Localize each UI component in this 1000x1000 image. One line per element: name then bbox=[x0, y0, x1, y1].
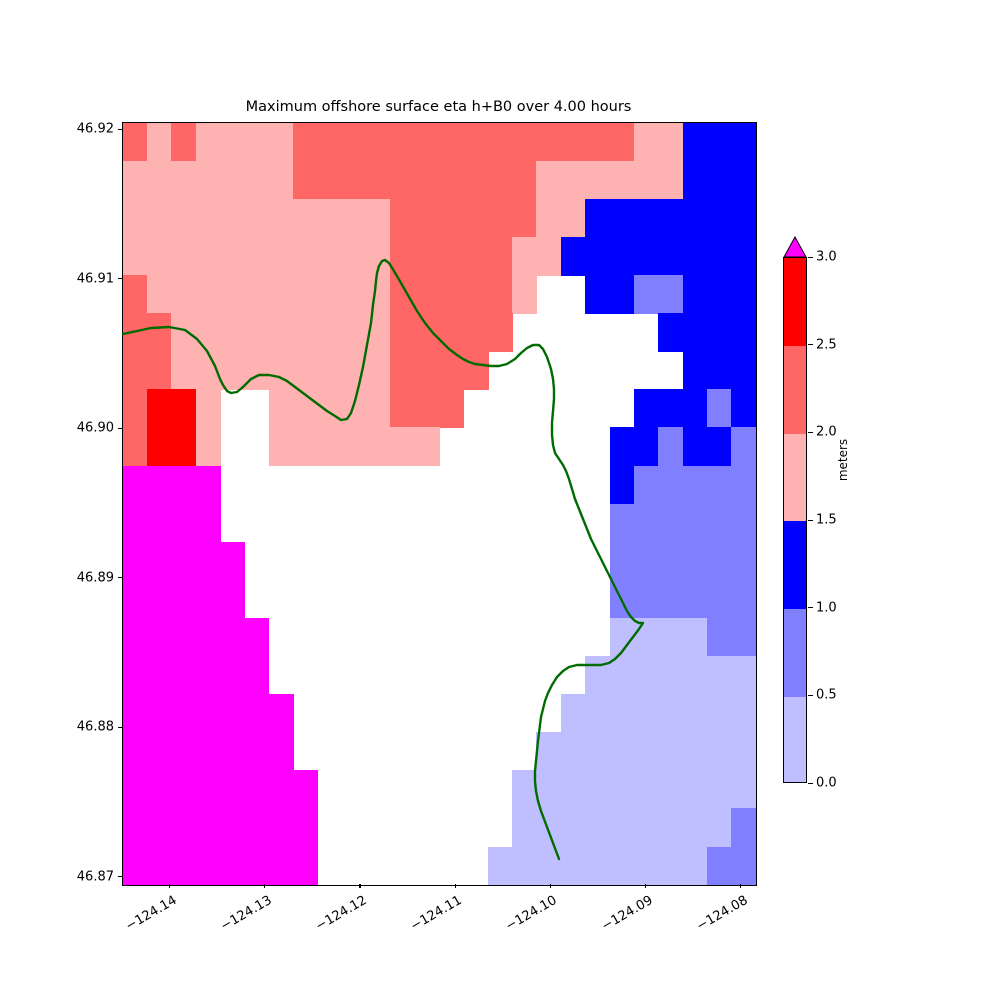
heatmap-cell bbox=[220, 847, 245, 886]
heatmap-cell bbox=[415, 275, 440, 314]
heatmap-cell bbox=[171, 580, 196, 619]
heatmap-cell bbox=[123, 618, 148, 657]
colorbar[interactable]: 0.00.51.01.52.02.53.0 bbox=[783, 236, 807, 783]
heatmap-cell bbox=[390, 389, 415, 428]
heatmap-cell bbox=[439, 199, 464, 238]
heatmap-cell bbox=[123, 694, 148, 733]
heatmap-cell bbox=[536, 732, 561, 771]
heatmap-cell bbox=[317, 199, 342, 238]
colorbar-tick-label: 2.5 bbox=[816, 337, 837, 352]
heatmap-cell bbox=[342, 123, 367, 162]
heatmap-cell bbox=[463, 123, 488, 162]
heatmap-cell bbox=[123, 313, 148, 352]
heatmap-cell bbox=[463, 275, 488, 314]
heatmap-cell bbox=[147, 732, 172, 771]
heatmap-cell bbox=[658, 161, 683, 200]
heatmap-cell bbox=[731, 732, 756, 771]
heatmap-cell bbox=[342, 275, 367, 314]
heatmap-cell bbox=[147, 694, 172, 733]
heatmap-cell bbox=[171, 313, 196, 352]
heatmap-cell bbox=[731, 313, 756, 352]
heatmap-cell bbox=[123, 237, 148, 276]
heatmap-cell bbox=[366, 199, 391, 238]
heatmap-cell bbox=[220, 618, 245, 657]
heatmap-cell bbox=[244, 656, 269, 695]
heatmap-cell bbox=[171, 389, 196, 428]
heatmap-cell bbox=[390, 237, 415, 276]
colorbar-band bbox=[784, 521, 806, 610]
heatmap-cell bbox=[196, 237, 221, 276]
heatmap-cell bbox=[683, 847, 708, 886]
heatmap-cell bbox=[147, 351, 172, 390]
heatmap-cell bbox=[512, 770, 537, 809]
x-tick-label: −124.11 bbox=[402, 893, 465, 938]
colorbar-band bbox=[784, 258, 806, 347]
heatmap-cell bbox=[244, 237, 269, 276]
heatmap-cell bbox=[610, 618, 635, 657]
heatmap-cell bbox=[707, 427, 732, 466]
y-tick-label: 46.87 bbox=[77, 869, 114, 884]
heatmap-cell bbox=[561, 847, 586, 886]
heatmap-cell bbox=[220, 237, 245, 276]
heatmap-cell bbox=[147, 161, 172, 200]
heatmap-cell bbox=[171, 123, 196, 162]
heatmap-cell bbox=[634, 847, 659, 886]
heatmap-cell bbox=[536, 161, 561, 200]
heatmap-cell bbox=[220, 694, 245, 733]
heatmap-cell bbox=[171, 770, 196, 809]
heatmap-cell bbox=[439, 313, 464, 352]
heatmap-cell bbox=[244, 313, 269, 352]
heatmap-cell bbox=[171, 275, 196, 314]
heatmap-cell bbox=[707, 275, 732, 314]
colorbar-tick-label: 0.5 bbox=[816, 688, 837, 703]
heatmap-cell bbox=[634, 123, 659, 162]
heatmap-cell bbox=[269, 351, 294, 390]
y-tick-mark bbox=[118, 428, 122, 429]
heatmap-cell bbox=[244, 275, 269, 314]
heatmap-cell bbox=[610, 199, 635, 238]
heatmap-cell bbox=[731, 542, 756, 581]
colorbar-tick-label: 1.5 bbox=[816, 513, 837, 528]
heatmap-cell bbox=[196, 732, 221, 771]
heatmap-cell bbox=[244, 123, 269, 162]
heatmap-cell bbox=[147, 123, 172, 162]
heatmap-cell bbox=[293, 123, 318, 162]
heatmap-cell bbox=[171, 618, 196, 657]
heatmap-cell bbox=[512, 199, 537, 238]
heatmap-cell bbox=[658, 542, 683, 581]
heatmap-cell bbox=[707, 389, 732, 428]
heatmap-cell bbox=[683, 504, 708, 543]
heatmap-cell bbox=[293, 313, 318, 352]
heatmap-cell bbox=[536, 808, 561, 847]
heatmap-cell bbox=[342, 427, 367, 466]
y-tick-mark bbox=[118, 129, 122, 130]
heatmap-cell bbox=[317, 313, 342, 352]
y-tick-mark bbox=[118, 577, 122, 578]
heatmap-cell bbox=[244, 351, 269, 390]
x-tick-mark bbox=[455, 884, 456, 888]
heatmap-cell bbox=[269, 694, 294, 733]
heatmap-cell bbox=[731, 161, 756, 200]
heatmap-cell bbox=[610, 161, 635, 200]
heatmap-cell bbox=[269, 427, 294, 466]
heatmap-cell bbox=[731, 199, 756, 238]
heatmap-cell bbox=[634, 542, 659, 581]
heatmap-cell bbox=[171, 808, 196, 847]
heatmap-cell bbox=[707, 656, 732, 695]
heatmap-cell bbox=[731, 618, 756, 657]
heatmap-cell bbox=[196, 199, 221, 238]
heatmap-cell bbox=[366, 275, 391, 314]
heatmap-cell bbox=[147, 808, 172, 847]
heatmap-cell bbox=[269, 847, 294, 886]
heatmap-cell bbox=[585, 199, 610, 238]
heatmap-cell bbox=[488, 847, 513, 886]
heatmap-cell bbox=[463, 199, 488, 238]
heatmap-cell bbox=[683, 694, 708, 733]
heatmap-cell bbox=[171, 427, 196, 466]
heatmap-cell bbox=[439, 123, 464, 162]
heatmap-cell bbox=[366, 313, 391, 352]
x-tick-label: −124.12 bbox=[307, 893, 370, 938]
heatmap-cell bbox=[683, 580, 708, 619]
y-tick-mark bbox=[118, 278, 122, 279]
page-title: Maximum offshore surface eta h+B0 over 4… bbox=[122, 98, 755, 116]
heatmap-cell bbox=[123, 427, 148, 466]
heatmap-cell bbox=[171, 351, 196, 390]
heatmap-cell bbox=[683, 275, 708, 314]
heatmap-cell bbox=[220, 580, 245, 619]
heatmap-cell bbox=[585, 732, 610, 771]
heatmap-cell bbox=[123, 389, 148, 428]
heatmap-cell bbox=[123, 466, 148, 505]
heatmap-cell bbox=[123, 770, 148, 809]
colorbar-tick-mark bbox=[808, 607, 813, 608]
heatmap-cell bbox=[610, 504, 635, 543]
heatmap-cell bbox=[244, 847, 269, 886]
heatmap-cell bbox=[658, 808, 683, 847]
heatmap-cell bbox=[269, 313, 294, 352]
heatmap-cell bbox=[220, 732, 245, 771]
heatmap-cell bbox=[123, 123, 148, 162]
heatmap-cell bbox=[366, 427, 391, 466]
heatmap-cell bbox=[147, 237, 172, 276]
colorbar-band bbox=[784, 345, 806, 434]
heatmap-cell bbox=[171, 542, 196, 581]
heatmap-cell bbox=[196, 389, 221, 428]
heatmap-cell bbox=[585, 275, 610, 314]
heatmap-cell bbox=[415, 389, 440, 428]
heatmap-cell bbox=[147, 427, 172, 466]
heatmap-cell bbox=[658, 770, 683, 809]
heatmap-cell bbox=[488, 161, 513, 200]
colorbar-axis-label: meters bbox=[836, 439, 850, 481]
heatmap-cell bbox=[561, 694, 586, 733]
heatmap-cell bbox=[610, 770, 635, 809]
heatmap-cell bbox=[683, 427, 708, 466]
heatmap-cell bbox=[123, 808, 148, 847]
heatmap-cell bbox=[123, 847, 148, 886]
heatmap-cell bbox=[196, 427, 221, 466]
heatmap-cell bbox=[269, 389, 294, 428]
heatmap-cell bbox=[147, 542, 172, 581]
heatmap-grid bbox=[123, 123, 756, 885]
y-tick-label: 46.88 bbox=[77, 720, 114, 735]
heatmap-cell bbox=[171, 161, 196, 200]
x-tick-label: −124.13 bbox=[211, 893, 274, 938]
heatmap-cell bbox=[342, 389, 367, 428]
heatmap-cell bbox=[293, 199, 318, 238]
heatmap-cell bbox=[317, 237, 342, 276]
heatmap-cell bbox=[634, 199, 659, 238]
colorbar-tick-mark bbox=[808, 432, 813, 433]
heatmap-cell bbox=[658, 199, 683, 238]
heatmap-cell bbox=[342, 237, 367, 276]
heatmap-cell bbox=[585, 847, 610, 886]
heatmap-cell bbox=[634, 275, 659, 314]
heatmap-cell bbox=[366, 351, 391, 390]
heatmap-cell bbox=[220, 161, 245, 200]
heatmap-cell bbox=[585, 237, 610, 276]
heatmap-cell bbox=[634, 808, 659, 847]
heatmap-cell bbox=[610, 656, 635, 695]
heatmap-cell bbox=[634, 161, 659, 200]
heatmap-cell bbox=[342, 351, 367, 390]
heatmap-cell bbox=[731, 694, 756, 733]
heatmap-cell bbox=[585, 770, 610, 809]
heatmap-cell bbox=[293, 847, 318, 886]
heatmap-cell bbox=[731, 770, 756, 809]
heatmap-cell bbox=[196, 847, 221, 886]
heatmap-cell bbox=[658, 656, 683, 695]
heatmap-cell bbox=[244, 161, 269, 200]
heatmap-cell bbox=[634, 504, 659, 543]
heatmap-cell bbox=[390, 275, 415, 314]
x-tick-label: −124.10 bbox=[497, 893, 560, 938]
heatmap-cell bbox=[683, 237, 708, 276]
heatmap-cell bbox=[317, 389, 342, 428]
heatmap-cell bbox=[220, 656, 245, 695]
heatmap-cell bbox=[293, 427, 318, 466]
heatmap-cell bbox=[683, 542, 708, 581]
heatmap-cell bbox=[561, 237, 586, 276]
heatmap-cell bbox=[610, 847, 635, 886]
heatmap-cell bbox=[415, 237, 440, 276]
heatmap-cell bbox=[463, 161, 488, 200]
heatmap-cell bbox=[561, 770, 586, 809]
heatmap-cell bbox=[196, 466, 221, 505]
heatmap-cell bbox=[512, 847, 537, 886]
heatmap-cell bbox=[293, 161, 318, 200]
heatmap-cell bbox=[707, 237, 732, 276]
y-tick-mark bbox=[118, 876, 122, 877]
heatmap-cell bbox=[123, 580, 148, 619]
heatmap-cell bbox=[512, 237, 537, 276]
heatmap-cell bbox=[196, 313, 221, 352]
heatmap-cell bbox=[317, 123, 342, 162]
heatmap-cell bbox=[707, 199, 732, 238]
x-tick-mark bbox=[169, 884, 170, 888]
heatmap-cell bbox=[196, 656, 221, 695]
heatmap-cell bbox=[463, 313, 488, 352]
heatmap-cell bbox=[171, 694, 196, 733]
heatmap-cell bbox=[366, 161, 391, 200]
heatmap-cell bbox=[196, 542, 221, 581]
heatmap-cell bbox=[196, 694, 221, 733]
heatmap-cell bbox=[415, 199, 440, 238]
heatmap-cell bbox=[147, 656, 172, 695]
heatmap-cell bbox=[196, 123, 221, 162]
heatmap-cell bbox=[683, 656, 708, 695]
colorbar-tick-label: 1.0 bbox=[816, 600, 837, 615]
heatmap-cell bbox=[123, 504, 148, 543]
heatmap-cell bbox=[123, 275, 148, 314]
heatmap-cell bbox=[536, 123, 561, 162]
heatmap-cell bbox=[683, 389, 708, 428]
heatmap-cell bbox=[634, 694, 659, 733]
heatmap-cell bbox=[634, 770, 659, 809]
heatmap-cell bbox=[707, 808, 732, 847]
heatmap-cell bbox=[463, 237, 488, 276]
heatmap-cell bbox=[147, 770, 172, 809]
heatmap-cell bbox=[342, 313, 367, 352]
heatmap-cell bbox=[707, 504, 732, 543]
heatmap-cell bbox=[585, 123, 610, 162]
heatmap-cell bbox=[707, 161, 732, 200]
heatmap-cell bbox=[269, 275, 294, 314]
x-tick-mark bbox=[740, 884, 741, 888]
heatmap-cell bbox=[683, 351, 708, 390]
colorbar-tick-mark bbox=[808, 257, 813, 258]
heatmap-cell bbox=[342, 199, 367, 238]
colorbar-tick-label: 2.0 bbox=[816, 425, 837, 440]
heatmap-cell bbox=[244, 618, 269, 657]
heatmap-cell bbox=[147, 313, 172, 352]
heatmap-cell bbox=[585, 161, 610, 200]
map-axes[interactable] bbox=[122, 122, 757, 886]
heatmap-cell bbox=[439, 237, 464, 276]
heatmap-cell bbox=[317, 351, 342, 390]
heatmap-cell bbox=[269, 237, 294, 276]
heatmap-cell bbox=[196, 275, 221, 314]
heatmap-cell bbox=[658, 732, 683, 771]
heatmap-cell bbox=[196, 808, 221, 847]
heatmap-cell bbox=[171, 656, 196, 695]
heatmap-cell bbox=[610, 237, 635, 276]
heatmap-cell bbox=[658, 313, 683, 352]
heatmap-cell bbox=[683, 466, 708, 505]
heatmap-cell bbox=[634, 656, 659, 695]
heatmap-cell bbox=[610, 808, 635, 847]
heatmap-cell bbox=[707, 466, 732, 505]
heatmap-cell bbox=[707, 694, 732, 733]
heatmap-cell bbox=[512, 275, 537, 314]
heatmap-cell bbox=[731, 847, 756, 886]
heatmap-cell bbox=[415, 351, 440, 390]
heatmap-cell bbox=[220, 351, 245, 390]
heatmap-cell bbox=[244, 770, 269, 809]
heatmap-cell bbox=[171, 237, 196, 276]
heatmap-cell bbox=[317, 275, 342, 314]
heatmap-cell bbox=[415, 313, 440, 352]
x-tick-mark bbox=[359, 884, 360, 888]
heatmap-cell bbox=[658, 389, 683, 428]
heatmap-cell bbox=[683, 123, 708, 162]
heatmap-cell bbox=[683, 770, 708, 809]
heatmap-cell bbox=[658, 847, 683, 886]
heatmap-cell bbox=[634, 427, 659, 466]
heatmap-cell bbox=[366, 123, 391, 162]
heatmap-cell bbox=[683, 732, 708, 771]
colorbar-tick-label: 0.0 bbox=[816, 776, 837, 791]
heatmap-cell bbox=[585, 694, 610, 733]
heatmap-cell bbox=[658, 466, 683, 505]
figure-canvas: Maximum offshore surface eta h+B0 over 4… bbox=[0, 0, 1000, 1000]
heatmap-cell bbox=[610, 275, 635, 314]
x-tick-mark bbox=[550, 884, 551, 888]
heatmap-cell bbox=[439, 389, 464, 428]
heatmap-cell bbox=[269, 123, 294, 162]
heatmap-cell bbox=[196, 504, 221, 543]
heatmap-cell bbox=[147, 275, 172, 314]
heatmap-cell bbox=[683, 161, 708, 200]
heatmap-cell bbox=[610, 580, 635, 619]
colorbar-band bbox=[784, 433, 806, 522]
heatmap-cell bbox=[585, 656, 610, 695]
heatmap-cell bbox=[171, 504, 196, 543]
heatmap-cell bbox=[439, 275, 464, 314]
heatmap-cell bbox=[707, 123, 732, 162]
heatmap-cell bbox=[244, 199, 269, 238]
heatmap-cell bbox=[634, 618, 659, 657]
colorbar-bands bbox=[783, 257, 807, 783]
colorbar-extend-max-arrow bbox=[783, 236, 807, 258]
heatmap-cell bbox=[731, 580, 756, 619]
heatmap-cell bbox=[171, 466, 196, 505]
heatmap-cell bbox=[147, 199, 172, 238]
heatmap-cell bbox=[731, 389, 756, 428]
heatmap-cell bbox=[610, 466, 635, 505]
heatmap-cell bbox=[707, 351, 732, 390]
heatmap-cell bbox=[244, 694, 269, 733]
heatmap-cell bbox=[123, 161, 148, 200]
heatmap-cell bbox=[610, 123, 635, 162]
heatmap-cell bbox=[390, 313, 415, 352]
heatmap-cell bbox=[171, 847, 196, 886]
heatmap-cell bbox=[220, 275, 245, 314]
x-tick-label: −124.08 bbox=[687, 893, 750, 938]
heatmap-cell bbox=[731, 275, 756, 314]
heatmap-cell bbox=[488, 275, 513, 314]
heatmap-cell bbox=[561, 732, 586, 771]
x-tick-label: −124.09 bbox=[592, 893, 655, 938]
heatmap-cell bbox=[707, 770, 732, 809]
heatmap-cell bbox=[731, 504, 756, 543]
heatmap-cell bbox=[220, 770, 245, 809]
heatmap-cell bbox=[634, 580, 659, 619]
heatmap-cell bbox=[536, 199, 561, 238]
heatmap-cell bbox=[731, 427, 756, 466]
heatmap-cell bbox=[220, 199, 245, 238]
colorbar-band bbox=[784, 696, 806, 783]
heatmap-cell bbox=[731, 466, 756, 505]
heatmap-cell bbox=[390, 351, 415, 390]
heatmap-cell bbox=[561, 161, 586, 200]
heatmap-cell bbox=[317, 161, 342, 200]
heatmap-cell bbox=[488, 199, 513, 238]
